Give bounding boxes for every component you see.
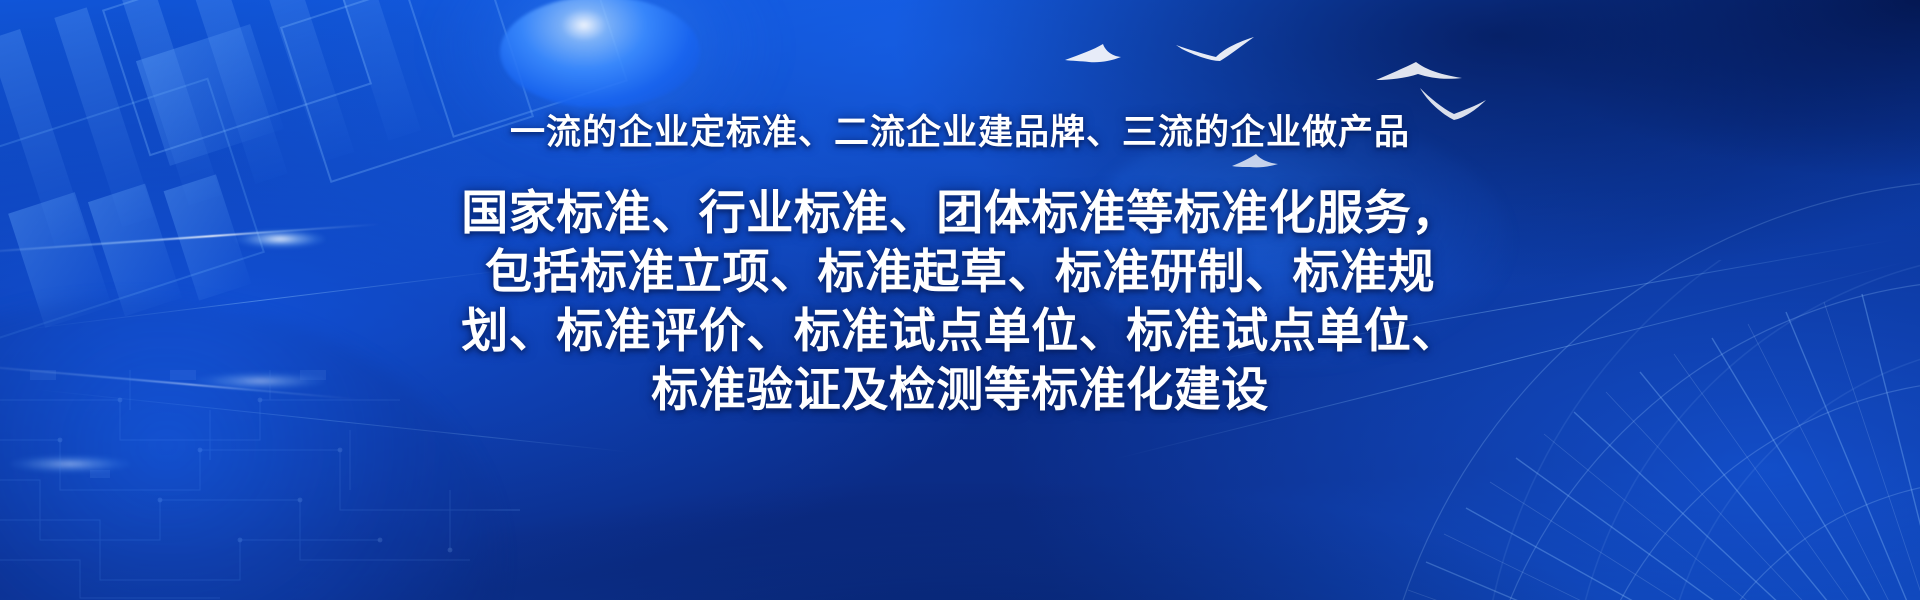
banner-text-block: 一流的企业定标准、二流企业建品牌、三流的企业做产品 国家标准、行业标准、团体标准… — [0, 0, 1920, 600]
banner-body-copy: 国家标准、行业标准、团体标准等标准化服务，包括标准立项、标准起草、标准研制、标准… — [445, 184, 1475, 420]
promotional-banner: 一流的企业定标准、二流企业建品牌、三流的企业做产品 国家标准、行业标准、团体标准… — [0, 0, 1920, 600]
banner-headline: 一流的企业定标准、二流企业建品牌、三流的企业做产品 — [510, 112, 1410, 154]
